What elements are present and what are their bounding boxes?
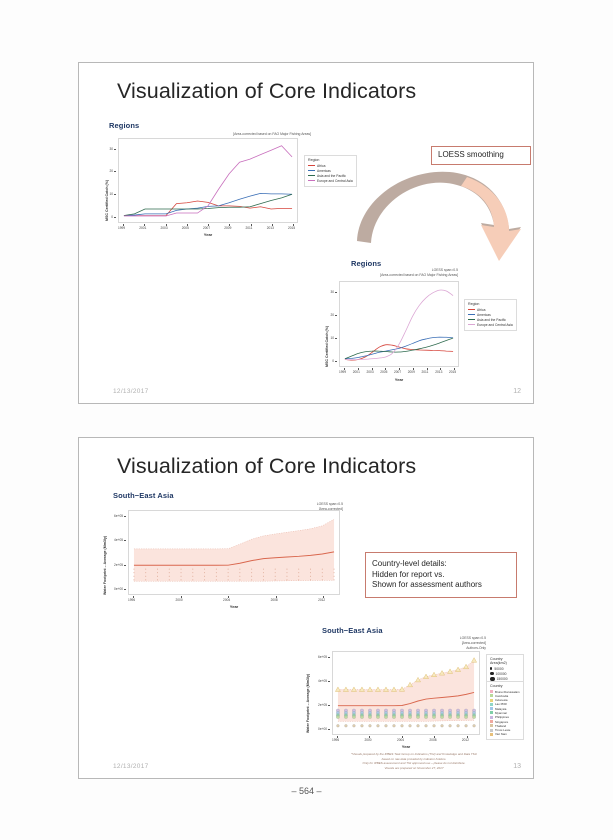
x-tick-mark xyxy=(187,224,188,226)
x-tick-label: 2007 xyxy=(203,226,210,230)
legend-title: Region xyxy=(308,158,353,162)
y-tick-mark xyxy=(114,217,116,218)
size-legend-item: 50000 xyxy=(490,667,520,671)
size-legend-label: 100000 xyxy=(496,672,507,676)
x-tick-mark xyxy=(467,736,468,738)
chart-sea-waterfootprint-authors: South−East Asia LOESS span=0.5 [Area-cor… xyxy=(244,626,524,754)
country-color-swatch xyxy=(490,694,493,697)
y-tick-mark xyxy=(335,315,337,316)
page-title: Visualization of Core Indicators xyxy=(117,79,416,104)
x-tick-label: 2013 xyxy=(267,226,274,230)
slide-number: 12 xyxy=(513,388,521,395)
legend-color-swatch xyxy=(308,175,315,176)
x-tick-mark xyxy=(166,224,167,226)
y-tick-mark xyxy=(124,540,126,541)
size-legend-dot xyxy=(490,672,494,676)
subtitle-line-2: [Area-corrected based on FAO Major Fishi… xyxy=(380,273,458,278)
chart-regions-raw: Regions [Area-corrected based on FAO Maj… xyxy=(101,121,321,241)
slide-2: Visualization of Core Indicators South−E… xyxy=(78,437,534,779)
chart-subtitle: LOESS span=0.5 [Area-corrected] Authors-… xyxy=(460,636,486,651)
y-tick-label: 0e+00 xyxy=(114,587,123,591)
x-tick-label: 2005 xyxy=(182,226,189,230)
size-legend-dot xyxy=(490,667,492,669)
x-tick-label: 2009 xyxy=(408,370,415,374)
legend-color-swatch xyxy=(308,165,315,166)
y-tick-mark xyxy=(328,657,330,658)
x-tick-label: 2011 xyxy=(246,226,253,230)
x-tick-label: 2008 xyxy=(271,598,278,602)
y-tick-label: 2e+05 xyxy=(114,563,123,567)
chart-title: Regions xyxy=(351,259,381,268)
y-tick-mark xyxy=(124,516,126,517)
country-color-swatch xyxy=(490,711,493,714)
x-tick-label: 1999 xyxy=(339,370,346,374)
y-tick-mark xyxy=(114,149,116,150)
chart-subtitle: LOESS span=0.5 [Area-corrected based on … xyxy=(380,268,458,278)
legend-title: Region xyxy=(468,302,513,306)
callout-line-3: Shown for assessment authors xyxy=(372,580,510,591)
x-axis-label: Year xyxy=(118,232,298,237)
legend-label: Americas xyxy=(317,169,331,173)
legend-color-swatch xyxy=(308,180,315,181)
x-axis-ticks: 199920012003200520072009201120132015 xyxy=(339,368,459,376)
legend-item: Africa xyxy=(308,164,353,168)
y-tick-mark xyxy=(335,361,337,362)
x-tick-mark xyxy=(133,596,134,598)
footnote: *Visuals prepared by the IPBES Task Grou… xyxy=(319,752,509,770)
x-tick-label: 2015 xyxy=(449,370,456,374)
x-tick-label: 2015 xyxy=(288,226,295,230)
legend-item: Americas xyxy=(468,313,513,317)
x-tick-mark xyxy=(323,596,324,598)
x-tick-label: 2004 xyxy=(397,738,404,742)
x-tick-label: 2003 xyxy=(367,370,374,374)
legend-item: Europe and Central Asia xyxy=(468,323,513,327)
x-tick-mark xyxy=(276,596,277,598)
chart-regions-loess: Regions LOESS span=0.5 [Area-corrected b… xyxy=(261,259,516,387)
y-tick-mark xyxy=(328,681,330,682)
x-tick-label: 2001 xyxy=(353,370,360,374)
x-axis-ticks: 19962000200420082012 xyxy=(332,736,480,744)
size-legend-label: 50000 xyxy=(494,667,503,671)
y-tick-label: 10 xyxy=(109,192,113,196)
x-tick-label: 1996 xyxy=(128,598,135,602)
x-tick-label: 2000 xyxy=(176,598,183,602)
plot-area xyxy=(128,510,340,595)
x-tick-label: 2003 xyxy=(161,226,168,230)
y-tick-label: 4e+05 xyxy=(318,679,327,683)
x-tick-label: 2005 xyxy=(380,370,387,374)
y-axis-ticks: 0102030 xyxy=(101,138,116,223)
x-axis-label: Year xyxy=(332,744,480,749)
x-axis-label: Year xyxy=(339,377,459,382)
x-tick-mark xyxy=(440,368,441,370)
legend-item: Europe and Central Asia xyxy=(308,179,353,183)
x-tick-mark xyxy=(272,224,273,226)
x-tick-mark xyxy=(369,736,370,738)
country-color-swatch xyxy=(490,720,493,723)
x-tick-mark xyxy=(372,368,373,370)
country-color-swatch xyxy=(490,707,493,710)
legend-label: Europe and Central Asia xyxy=(317,179,353,183)
x-tick-mark xyxy=(344,368,345,370)
x-tick-mark xyxy=(123,224,124,226)
country-legend-title: Country xyxy=(490,684,520,688)
y-tick-mark xyxy=(124,565,126,566)
chart-sea-waterfootprint: South−East Asia LOESS span=0.5 [Area-cor… xyxy=(101,491,361,611)
x-tick-mark xyxy=(337,736,338,738)
y-tick-label: 30 xyxy=(330,290,334,294)
plot-area xyxy=(339,281,459,367)
y-tick-label: 4e+05 xyxy=(114,538,123,542)
x-axis-ticks: 199920012003200520072009201120132015 xyxy=(118,224,298,232)
legend-label: Africa xyxy=(317,164,325,168)
chart-title: Regions xyxy=(109,121,139,130)
x-axis-ticks: 19962000200420082012 xyxy=(128,596,340,604)
y-axis-ticks: 0102030 xyxy=(322,281,337,367)
x-tick-label: 2009 xyxy=(224,226,231,230)
y-tick-mark xyxy=(335,292,337,293)
y-tick-mark xyxy=(328,705,330,706)
legend-color-swatch xyxy=(468,314,475,315)
y-tick-mark xyxy=(124,589,126,590)
x-tick-label: 1996 xyxy=(332,738,339,742)
y-tick-label: 30 xyxy=(109,147,113,151)
x-tick-mark xyxy=(228,596,229,598)
legend-label: Europe and Central Asia xyxy=(477,323,513,327)
country-legend-item: Viet Nam xyxy=(490,732,520,736)
chart-subtitle: [Area-corrected based on FAO Major Fishi… xyxy=(233,132,311,137)
x-tick-mark xyxy=(229,224,230,226)
y-tick-mark xyxy=(335,338,337,339)
date-stamp: 12/13/2017 xyxy=(113,388,149,395)
country-color-swatch xyxy=(490,733,493,736)
x-axis-label: Year xyxy=(128,604,340,609)
y-tick-mark xyxy=(114,171,116,172)
callout-country-level-details: Country-level details: Hidden for report… xyxy=(365,552,517,598)
legend-item: Asia and the Pacific xyxy=(308,174,353,178)
country-color-swatch xyxy=(490,724,493,727)
x-tick-mark xyxy=(413,368,414,370)
legend-color-swatch xyxy=(468,324,475,325)
curved-arrow xyxy=(349,159,529,269)
y-tick-label: 0 xyxy=(111,215,113,219)
date-stamp: 12/13/2017 xyxy=(113,763,149,770)
y-tick-mark xyxy=(114,194,116,195)
y-tick-label: 10 xyxy=(330,336,334,340)
country-color-swatch xyxy=(490,703,493,706)
chart-title: South−East Asia xyxy=(113,491,174,500)
y-axis-ticks: 0e+002e+054e+056e+05 xyxy=(309,651,330,735)
x-tick-mark xyxy=(402,736,403,738)
footnote-line-4: Visuals are prepared on November 27, 201… xyxy=(319,766,509,771)
x-tick-mark xyxy=(427,368,428,370)
y-tick-mark xyxy=(328,729,330,730)
x-tick-mark xyxy=(358,368,359,370)
x-tick-mark xyxy=(454,368,455,370)
callout-line-2: Hidden for report vs. xyxy=(372,570,510,581)
y-tick-label: 6e+05 xyxy=(114,514,123,518)
x-tick-label: 2001 xyxy=(139,226,146,230)
x-tick-label: 1999 xyxy=(118,226,125,230)
document-page: Visualization of Core Indicators Regions… xyxy=(0,0,613,840)
x-tick-label: 2008 xyxy=(429,738,436,742)
y-axis-ticks: 0e+002e+054e+056e+05 xyxy=(105,510,126,595)
y-tick-label: 20 xyxy=(330,313,334,317)
y-tick-label: 20 xyxy=(109,169,113,173)
y-tick-label: 0e+00 xyxy=(318,727,327,731)
y-tick-label: 2e+05 xyxy=(318,703,327,707)
country-legend-label: Viet Nam xyxy=(495,732,507,736)
country-legend: Country Brunei DarussalamCambodiaIndones… xyxy=(486,681,524,740)
country-color-swatch xyxy=(490,690,493,693)
x-tick-mark xyxy=(208,224,209,226)
y-tick-label: 0 xyxy=(332,359,334,363)
x-tick-label: 2000 xyxy=(364,738,371,742)
x-tick-mark xyxy=(399,368,400,370)
legend-color-swatch xyxy=(308,170,315,171)
chart-legend: Region AfricaAmericasAsia and the Pacifi… xyxy=(464,299,517,331)
x-tick-label: 2004 xyxy=(223,598,230,602)
slide-number: 13 xyxy=(513,763,521,770)
chart-title: South−East Asia xyxy=(322,626,383,635)
x-tick-label: 2013 xyxy=(435,370,442,374)
x-tick-mark xyxy=(144,224,145,226)
slide-1: Visualization of Core Indicators Regions… xyxy=(78,62,534,404)
plot-area xyxy=(332,651,480,735)
x-tick-mark xyxy=(181,596,182,598)
country-color-swatch xyxy=(490,729,493,732)
size-legend-item: 100000 xyxy=(490,672,520,676)
legend-color-swatch xyxy=(468,309,475,310)
plot-area xyxy=(118,138,298,223)
x-tick-label: 2007 xyxy=(394,370,401,374)
country-color-swatch xyxy=(490,699,493,702)
legend-item: Africa xyxy=(468,308,513,312)
x-tick-mark xyxy=(293,224,294,226)
x-tick-mark xyxy=(385,368,386,370)
legend-label: Americas xyxy=(477,313,491,317)
x-tick-mark xyxy=(434,736,435,738)
legend-color-swatch xyxy=(468,319,475,320)
page-title: Visualization of Core Indicators xyxy=(117,454,416,479)
x-tick-mark xyxy=(251,224,252,226)
country-color-swatch xyxy=(490,716,493,719)
legend-label: Asia and the Pacific xyxy=(477,318,506,322)
legend-label: Asia and the Pacific xyxy=(317,174,346,178)
legend-item: Americas xyxy=(308,169,353,173)
x-tick-label: 2012 xyxy=(462,738,469,742)
y-tick-label: 6e+05 xyxy=(318,655,327,659)
document-page-number: – 564 – xyxy=(0,786,613,796)
x-tick-label: 2011 xyxy=(422,370,429,374)
size-legend-title: Country Area(km2) xyxy=(490,657,520,665)
legend-label: Africa xyxy=(477,308,485,312)
legend-item: Asia and the Pacific xyxy=(468,318,513,322)
callout-line-1: Country-level details: xyxy=(372,559,510,570)
x-tick-label: 2012 xyxy=(318,598,325,602)
